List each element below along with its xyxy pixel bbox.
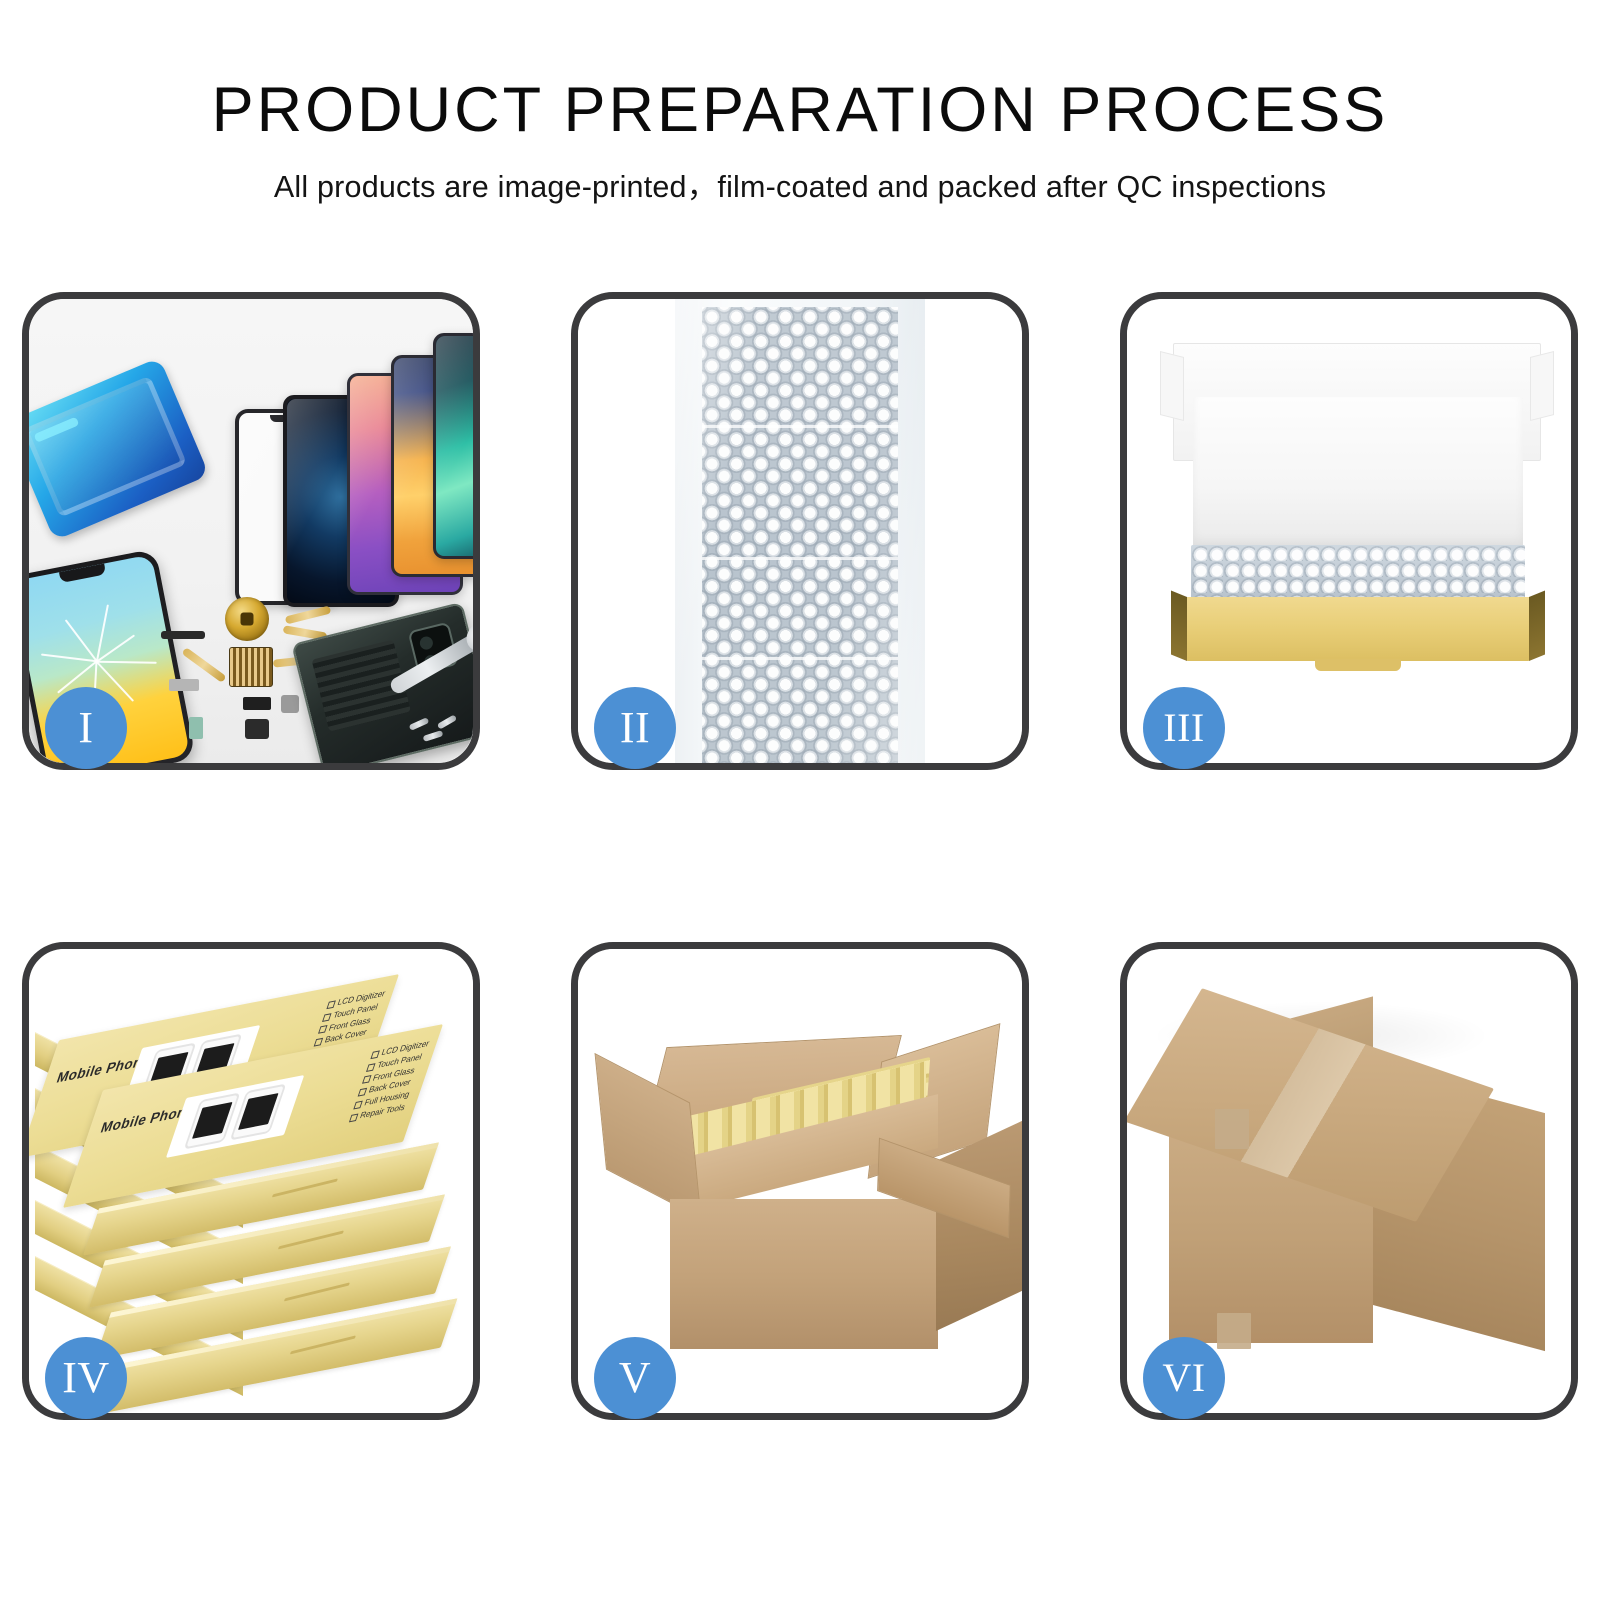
phone-notch [59, 563, 106, 583]
battery-connector-part [243, 697, 271, 710]
step-badge-1: I [45, 687, 127, 769]
product-preparation-infographic: PRODUCT PREPARATION PROCESS All products… [0, 0, 1600, 1600]
step-panel-4[interactable]: Mobile Phone Spare Parts LCD Digitizer T… [22, 942, 480, 1420]
retail-box-checklist-2: LCD Digitizer Touch Panel Front Glass Ba… [348, 1038, 431, 1124]
page-subtitle: All products are image-printed，film-coat… [0, 162, 1600, 206]
foam-liner [1193, 397, 1523, 547]
sim-tray-part [189, 717, 203, 739]
step-panel-1[interactable]: I [22, 292, 480, 770]
carton-body-open [670, 1199, 938, 1349]
header: PRODUCT PREPARATION PROCESS All products… [0, 78, 1600, 206]
step-panel-5[interactable]: V [571, 942, 1029, 1420]
flex-cable-part-1 [285, 606, 332, 625]
bubble-pouch-outer [675, 299, 925, 763]
plastic-sheen [675, 299, 925, 763]
step-badge-4: IV [45, 1337, 127, 1419]
step-badge-6: VI [1143, 1337, 1225, 1419]
adhesive-frame-part [29, 357, 209, 540]
retail-box-photo-2 [166, 1075, 304, 1158]
step-panel-2[interactable]: II [571, 292, 1029, 770]
lcd-screen-teal [433, 333, 473, 559]
packing-tape-side-upper [1215, 1109, 1249, 1149]
step-badge-3: III [1143, 687, 1225, 769]
step-panel-3[interactable]: III [1120, 292, 1578, 770]
bubble-wrapped-product [1191, 545, 1525, 601]
step-badge-2: II [594, 687, 676, 769]
flex-cable-part-4 [181, 647, 226, 683]
packing-tape-side-lower [1217, 1313, 1251, 1349]
vibrator-motor-part [281, 695, 299, 713]
camera-module-part [245, 719, 269, 739]
earpiece-speaker-part [161, 631, 205, 639]
step-badge-5: V [594, 1337, 676, 1419]
page-title: PRODUCT PREPARATION PROCESS [0, 78, 1600, 142]
ic-chip-part [229, 647, 273, 687]
mailer-tab [1315, 659, 1401, 671]
process-steps-grid: I II [22, 292, 1578, 1420]
bubble-wrap-texture-small [1191, 545, 1525, 601]
step-panel-6[interactable]: VI [1120, 942, 1578, 1420]
metal-bracket-part [169, 679, 199, 691]
mailer-box-front [1185, 597, 1531, 661]
wireless-charging-coil-part [225, 597, 269, 641]
screws-group [409, 719, 459, 745]
